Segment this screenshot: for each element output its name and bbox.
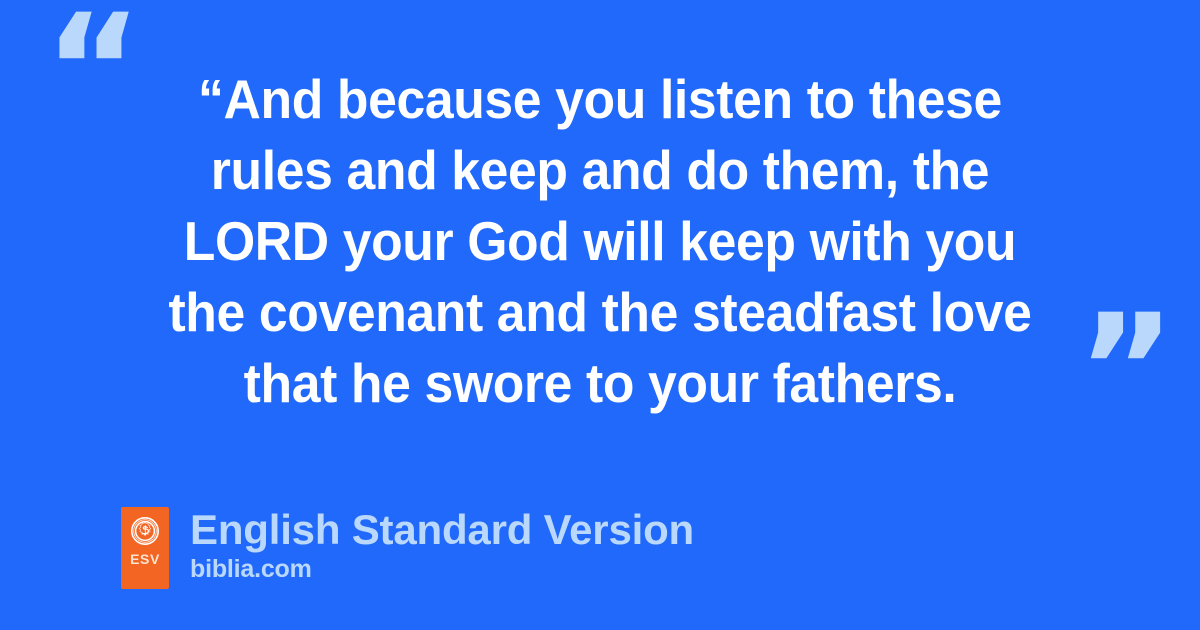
esv-logo-badge: ESV (121, 507, 169, 589)
source-site-name: biblia.com (190, 555, 694, 583)
close-quote-mark-icon: ” (1077, 295, 1172, 445)
verse-text: “And because you listen to these rules a… (144, 64, 1056, 419)
verse-line-4: the covenant and the steadfast love (144, 277, 1056, 348)
attribution-text-group: English Standard Version biblia.com (190, 507, 694, 583)
esv-seal-icon (130, 516, 160, 546)
verse-line-5: that he swore to your fathers. (144, 348, 1056, 419)
attribution-block: ESV English Standard Version biblia.com (121, 507, 694, 589)
esv-logo-label: ESV (130, 552, 160, 566)
verse-line-2: rules and keep and do them, the (144, 135, 1056, 206)
verse-line-1: “And because you listen to these (144, 64, 1056, 135)
bible-version-name: English Standard Version (190, 507, 694, 553)
open-quote-mark-icon: “ (44, 0, 139, 145)
verse-line-3: LORD your God will keep with you (144, 206, 1056, 277)
verse-image-card: “ “And because you listen to these rules… (0, 0, 1200, 630)
